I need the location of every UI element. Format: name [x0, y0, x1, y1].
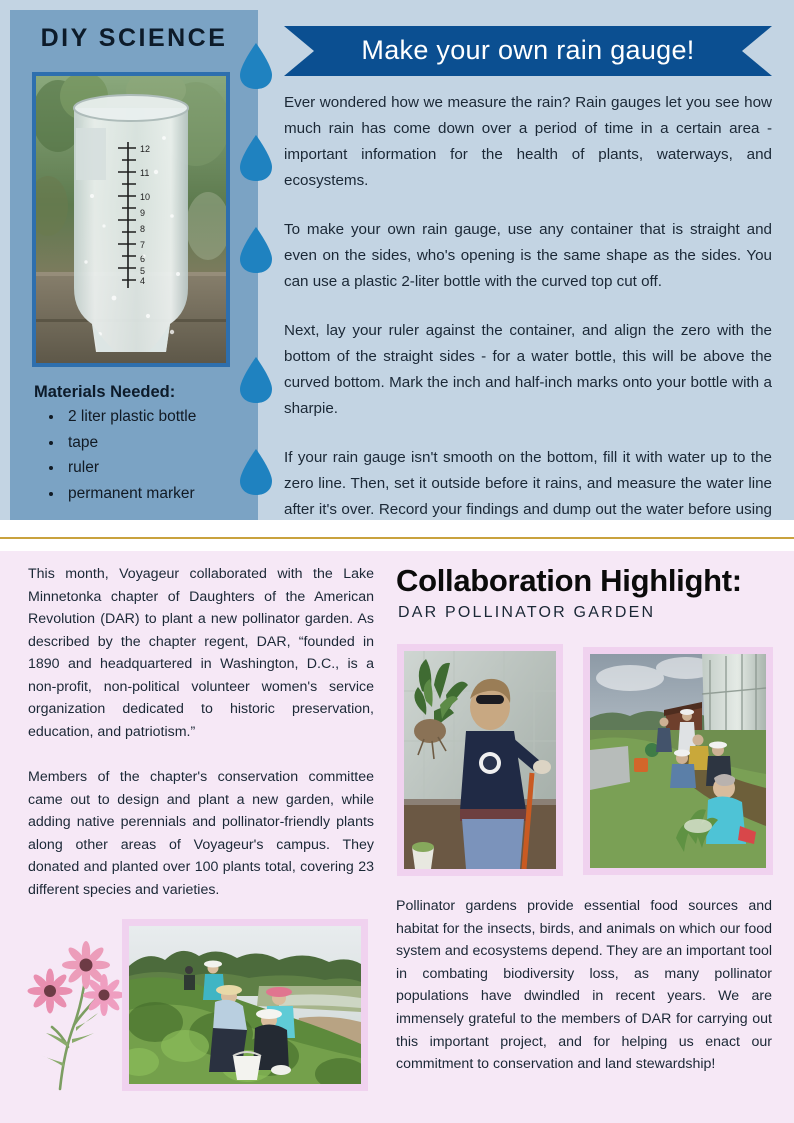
materials-heading: Materials Needed:: [34, 383, 175, 402]
svg-text:10: 10: [140, 192, 150, 202]
diy-paragraph: Next, lay your ruler against the contain…: [284, 318, 772, 422]
svg-text:9: 9: [140, 208, 145, 218]
svg-text:12: 12: [140, 144, 150, 154]
collaboration-paragraph: This month, Voyageur collaborated with t…: [28, 563, 374, 743]
volunteers-prairie-planting-photo: [122, 919, 368, 1091]
svg-text:7: 7: [140, 240, 145, 250]
collaboration-right-text: Pollinator gardens provide essential foo…: [396, 895, 772, 1076]
collaboration-paragraph: Members of the chapter's conservation co…: [28, 766, 374, 901]
collaboration-paragraph: Pollinator gardens provide essential foo…: [396, 895, 772, 1076]
materials-list: 2 liter plastic bottle tape ruler perman…: [42, 404, 196, 506]
svg-text:5: 5: [140, 266, 145, 276]
collaboration-section: This month, Voyageur collaborated with t…: [0, 551, 794, 1123]
diy-paragraph: To make your own rain gauge, use any con…: [284, 217, 772, 295]
diy-paragraph: If your rain gauge isn't smooth on the b…: [284, 445, 772, 520]
rain-gauge-banner: Make your own rain gauge!: [284, 26, 772, 76]
section-divider: [0, 537, 794, 539]
collaboration-left-text: This month, Voyageur collaborated with t…: [28, 563, 374, 924]
raindrop-icon: [239, 134, 273, 182]
list-item: 2 liter plastic bottle: [64, 404, 196, 430]
diy-body-text: Ever wondered how we measure the rain? R…: [284, 90, 772, 520]
coneflower-illustration: [24, 921, 128, 1093]
collaboration-subtitle: DAR POLLINATOR GARDEN: [398, 604, 655, 622]
volunteers-prairie-planting-art: [129, 926, 361, 1084]
coneflower-art: [24, 921, 128, 1093]
svg-text:11: 11: [140, 168, 149, 178]
rain-gauge-photo-art: 1211 109 87 65 4: [36, 76, 226, 363]
raindrop-icon: [239, 448, 273, 496]
volunteers-greenhouse-row-art: [590, 654, 766, 868]
raindrop-icon: [239, 226, 273, 274]
collaboration-title: Collaboration Highlight:: [396, 563, 742, 599]
raindrop-icon: [239, 356, 273, 404]
list-item: permanent marker: [64, 481, 196, 507]
banner-title: Make your own rain gauge!: [284, 26, 772, 76]
svg-text:4: 4: [140, 276, 145, 286]
diy-paragraph: Ever wondered how we measure the rain? R…: [284, 90, 772, 194]
diy-section-title: DIY SCIENCE: [10, 24, 258, 53]
list-item: ruler: [64, 455, 196, 481]
list-item: tape: [64, 430, 196, 456]
rain-gauge-photo: 1211 109 87 65 4: [32, 72, 230, 367]
raindrop-icon: [239, 42, 273, 90]
diy-science-section: DIY SCIENCE: [0, 0, 794, 520]
volunteer-holding-plants-art: [404, 651, 556, 869]
volunteers-greenhouse-row-photo: [583, 647, 773, 875]
volunteer-holding-plants-photo: [397, 644, 563, 876]
svg-text:8: 8: [140, 224, 145, 234]
